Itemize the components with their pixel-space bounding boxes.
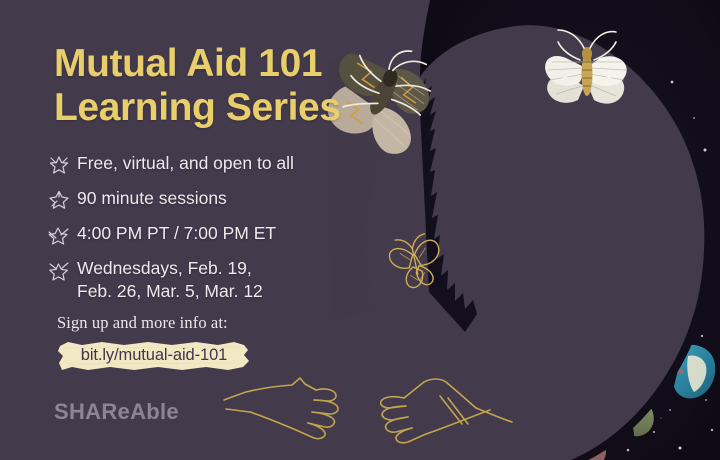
list-item: Free, virtual, and open to all bbox=[48, 152, 348, 176]
sparkle-star-icon bbox=[48, 224, 70, 246]
details-list: Free, virtual, and open to all 90 minute… bbox=[48, 152, 348, 314]
list-item: 90 minute sessions bbox=[48, 187, 348, 211]
poster-title: Mutual Aid 101 Learning Series bbox=[54, 42, 341, 130]
list-item-label: 90 minute sessions bbox=[77, 187, 227, 210]
signup-url-banner[interactable]: bit.ly/mutual-aid-101 bbox=[58, 341, 250, 371]
signup-label: Sign up and more info at: bbox=[57, 313, 228, 333]
sparkle-star-icon bbox=[48, 189, 70, 211]
poster-canvas: Mutual Aid 101 Learning Series Free, vir… bbox=[0, 0, 720, 460]
logo-text: SHAReAble bbox=[54, 399, 179, 424]
sparkle-star-icon bbox=[48, 154, 70, 176]
sparkle-star-icon bbox=[48, 259, 70, 281]
shareable-logo: SHAReAble bbox=[54, 399, 179, 425]
list-item-label: 4:00 PM PT / 7:00 PM ET bbox=[77, 222, 276, 245]
list-item: 4:00 PM PT / 7:00 PM ET bbox=[48, 222, 348, 246]
list-item: Wednesdays, Feb. 19, Feb. 26, Mar. 5, Ma… bbox=[48, 257, 348, 303]
signup-url-text: bit.ly/mutual-aid-101 bbox=[58, 341, 250, 371]
list-item-label: Wednesdays, Feb. 19, Feb. 26, Mar. 5, Ma… bbox=[77, 257, 263, 303]
list-item-label: Free, virtual, and open to all bbox=[77, 152, 294, 175]
